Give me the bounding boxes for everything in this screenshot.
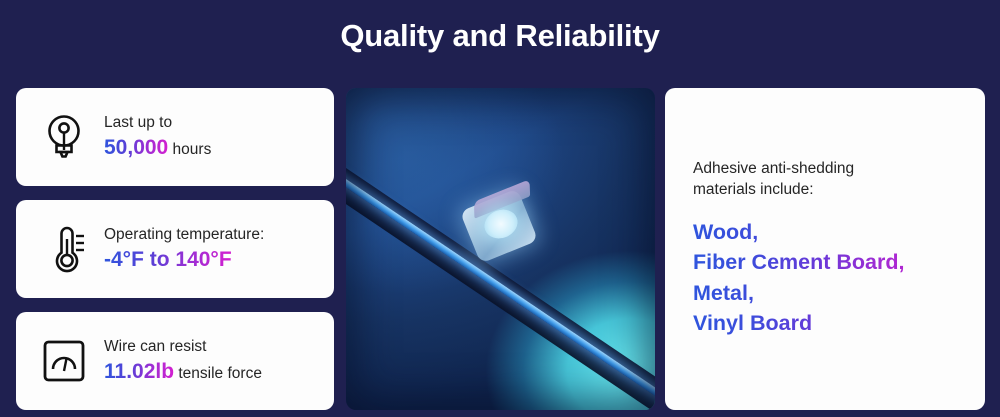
materials-list: Wood, Fiber Cement Board, Metal, Vinyl B… bbox=[693, 217, 957, 339]
feature-value: 50,000 hours bbox=[104, 135, 211, 161]
material-item: Fiber Cement Board, bbox=[693, 247, 957, 278]
feature-card-list: Last up to 50,000 hours Operating temper… bbox=[16, 88, 334, 410]
thermometer-icon bbox=[36, 224, 92, 274]
feature-highlight: 11.02lb bbox=[104, 360, 174, 383]
photo-vignette bbox=[346, 88, 655, 410]
feature-label: Operating temperature: bbox=[104, 226, 264, 245]
materials-lead: Adhesive anti-shedding materials include… bbox=[693, 159, 957, 201]
materials-panel: Adhesive anti-shedding materials include… bbox=[665, 88, 985, 410]
quality-reliability-banner: Quality and Reliability Last up to 50,00… bbox=[0, 0, 1000, 417]
material-item: Metal, bbox=[693, 278, 957, 309]
feature-suffix: tensile force bbox=[174, 365, 262, 382]
material-item: Wood, bbox=[693, 217, 957, 248]
materials-lead-line-1: Adhesive anti-shedding bbox=[693, 159, 957, 180]
feature-label: Wire can resist bbox=[104, 338, 262, 357]
feature-highlight: 50,000 bbox=[104, 136, 168, 159]
feature-text: Last up to 50,000 hours bbox=[104, 114, 211, 161]
feature-text: Wire can resist 11.02lb tensile force bbox=[104, 338, 262, 385]
photo-base bbox=[346, 88, 655, 410]
feature-highlight: -4°F to 140°F bbox=[104, 248, 232, 271]
feature-value: 11.02lb tensile force bbox=[104, 359, 262, 385]
feature-card-tensile: Wire can resist 11.02lb tensile force bbox=[16, 312, 334, 410]
feature-value: -4°F to 140°F bbox=[104, 247, 264, 273]
page-title: Quality and Reliability bbox=[0, 18, 1000, 54]
feature-text: Operating temperature: -4°F to 140°F bbox=[104, 226, 264, 273]
gauge-icon bbox=[36, 338, 92, 384]
feature-label: Last up to bbox=[104, 114, 211, 133]
product-photo bbox=[346, 88, 655, 410]
materials-lead-line-2: materials include: bbox=[693, 180, 957, 201]
feature-card-temperature: Operating temperature: -4°F to 140°F bbox=[16, 200, 334, 298]
lightbulb-icon bbox=[36, 112, 92, 162]
material-item: Vinyl Board bbox=[693, 308, 957, 339]
feature-suffix: hours bbox=[168, 141, 211, 158]
feature-card-lifespan: Last up to 50,000 hours bbox=[16, 88, 334, 186]
